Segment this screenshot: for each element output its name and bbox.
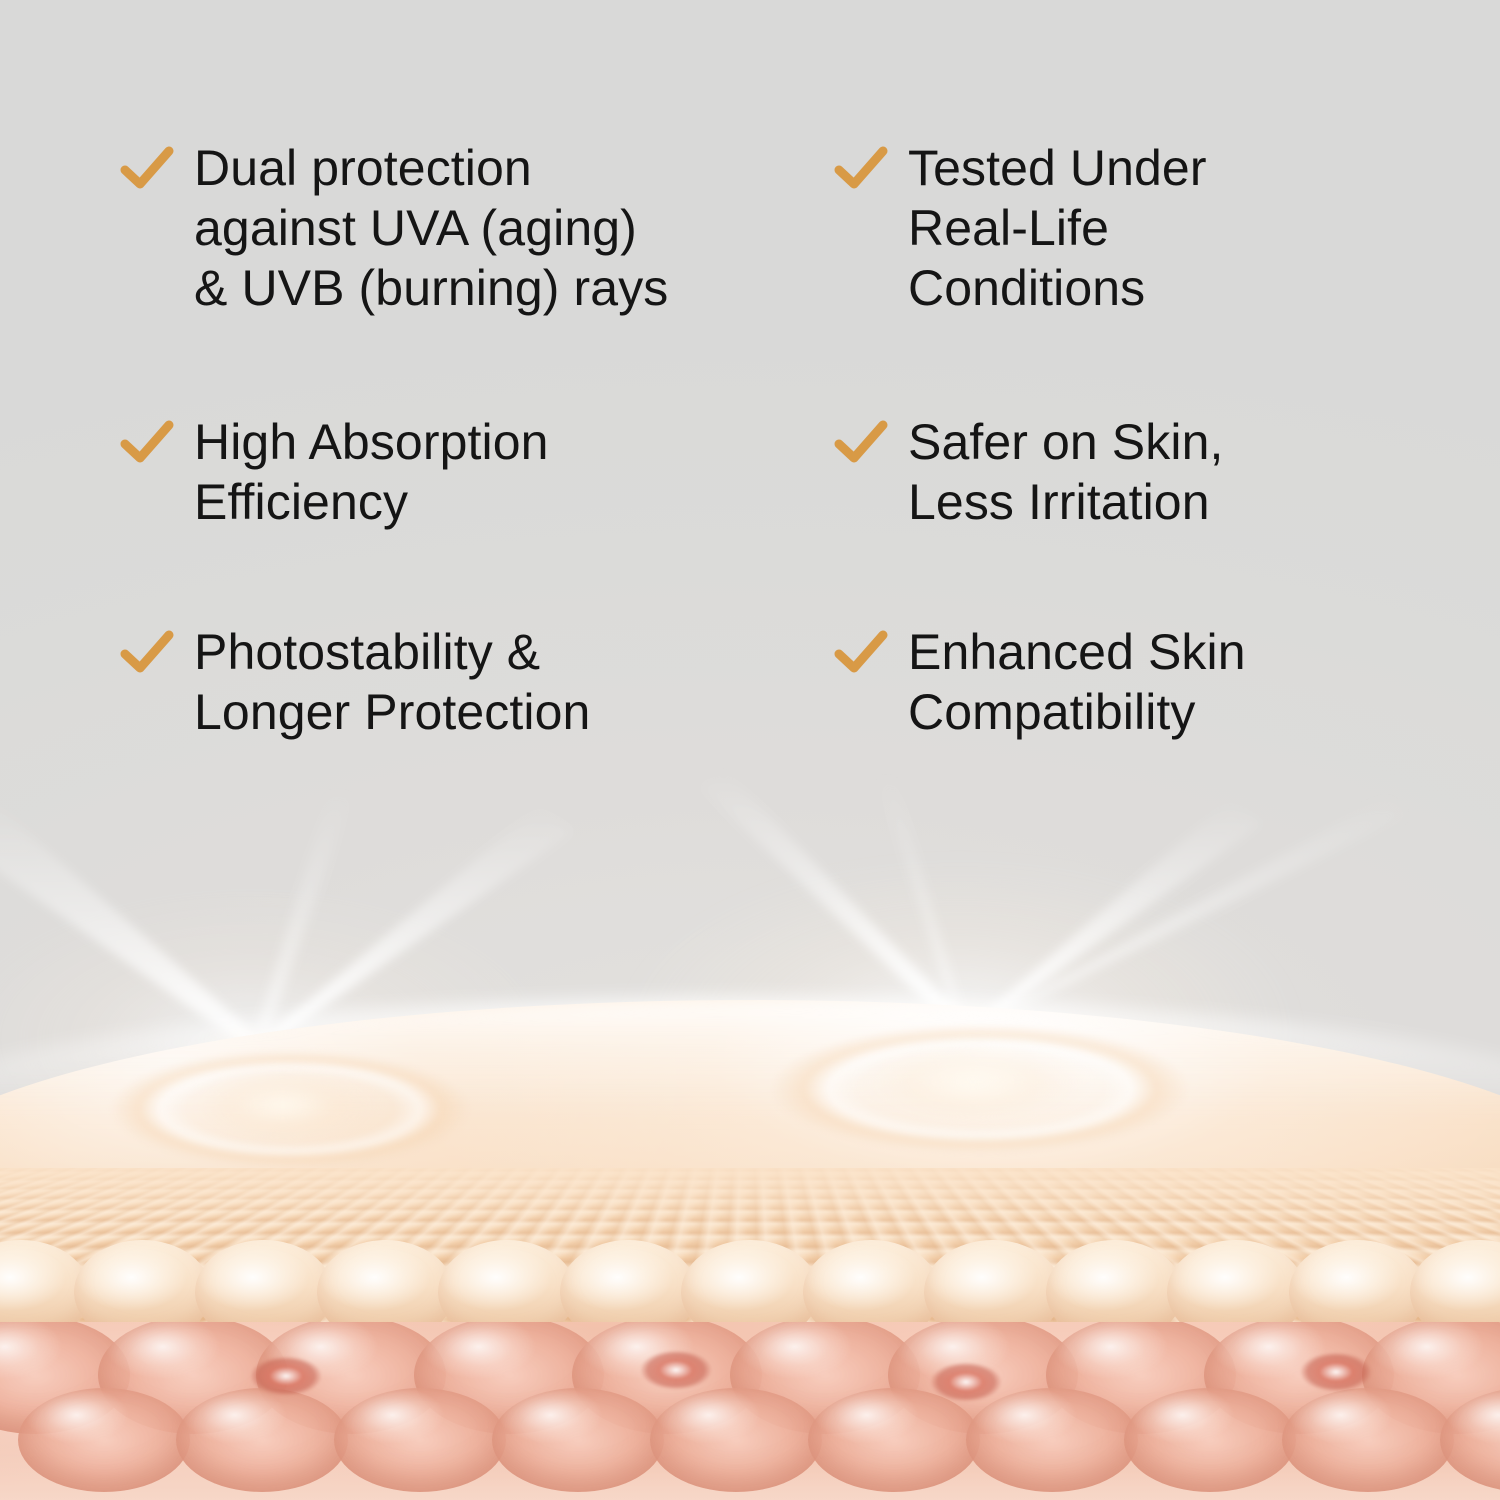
feature-list: Dual protection against UVA (aging) & UV… bbox=[0, 0, 1500, 780]
check-icon bbox=[832, 624, 890, 682]
dermal-cell bbox=[1282, 1388, 1454, 1492]
dermal-cell-nucleus bbox=[1300, 1352, 1372, 1392]
check-icon bbox=[118, 414, 176, 472]
dermal-cell bbox=[18, 1388, 190, 1492]
feature-label: Dual protection against UVA (aging) & UV… bbox=[194, 138, 668, 318]
feature-label: Enhanced Skin Compatibility bbox=[908, 622, 1246, 742]
impact-core-right bbox=[858, 1040, 1088, 1124]
feature-label: Safer on Skin, Less Irritation bbox=[908, 412, 1223, 532]
feature-safer-on-skin: Safer on Skin, Less Irritation bbox=[832, 412, 1372, 532]
dermal-cell bbox=[1124, 1388, 1296, 1492]
feature-label: Tested Under Real-Life Conditions bbox=[908, 138, 1207, 318]
dermal-cell bbox=[176, 1388, 348, 1492]
check-icon bbox=[118, 140, 176, 198]
check-icon bbox=[832, 140, 890, 198]
dermal-cell-nucleus bbox=[640, 1350, 712, 1390]
infographic-canvas: Dual protection against UVA (aging) & UV… bbox=[0, 0, 1500, 1500]
dermal-cell-nucleus bbox=[930, 1362, 1002, 1402]
feature-tested-real-life: Tested Under Real-Life Conditions bbox=[832, 138, 1372, 318]
dermal-cell-nucleus bbox=[250, 1356, 322, 1396]
dermal-cell bbox=[492, 1388, 664, 1492]
feature-skin-compatibility: Enhanced Skin Compatibility bbox=[832, 622, 1372, 742]
feature-label: High Absorption Efficiency bbox=[194, 412, 549, 532]
dermal-cell bbox=[966, 1388, 1138, 1492]
dermal-cell bbox=[334, 1388, 506, 1492]
feature-label: Photostability & Longer Protection bbox=[194, 622, 590, 742]
feature-dual-protection: Dual protection against UVA (aging) & UV… bbox=[118, 138, 758, 318]
check-icon bbox=[118, 624, 176, 682]
dermal-cell bbox=[808, 1388, 980, 1492]
skin-cross-section bbox=[0, 940, 1500, 1500]
dermis-layer bbox=[0, 1322, 1500, 1500]
impact-core-left bbox=[188, 1068, 378, 1142]
check-icon bbox=[832, 414, 890, 472]
dermal-cell bbox=[650, 1388, 822, 1492]
feature-photostability: Photostability & Longer Protection bbox=[118, 622, 758, 742]
feature-high-absorption: High Absorption Efficiency bbox=[118, 412, 758, 532]
